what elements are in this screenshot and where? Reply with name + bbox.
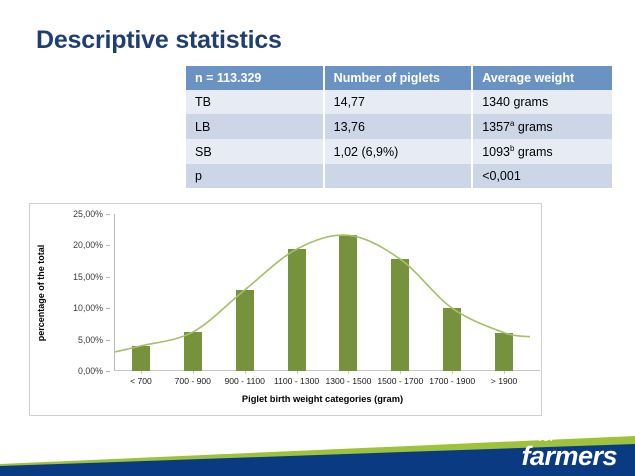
chart-x-tick-mark xyxy=(452,371,453,374)
cell-weight-value: <0,001 xyxy=(482,169,521,183)
chart-y-tick-label: 5,00% xyxy=(78,335,103,345)
table-header-n: n = 113.329 xyxy=(186,66,324,90)
chart-y-tick-mark xyxy=(106,340,110,341)
page-title: Descriptive statistics xyxy=(36,26,282,55)
chart-x-tick-mark xyxy=(504,371,505,374)
chart-bar-slot xyxy=(219,214,271,371)
cell-piglets xyxy=(324,164,473,188)
chart-x-tick-labels: < 700700 - 900900 - 11001100 - 13001300 … xyxy=(115,376,530,386)
cell-weight-unit: grams xyxy=(514,120,552,134)
table-header-weight: Average weight xyxy=(472,66,612,90)
cell-weight: 1357a grams xyxy=(472,114,612,139)
chart-y-axis-title: percentage of the total xyxy=(36,239,52,347)
chart-y-ticks: 0,00%5,00%10,00%15,00%20,00%25,00% xyxy=(53,214,109,371)
chart-bar xyxy=(339,235,357,371)
cell-weight-value: 1357 xyxy=(482,120,510,134)
chart-x-tick-label: 1300 - 1500 xyxy=(323,376,375,386)
chart-y-tick-label: 25,00% xyxy=(73,209,103,219)
chart-y-tick-label: 20,00% xyxy=(73,240,103,250)
cell-piglets: 13,76 xyxy=(324,114,473,139)
cell-label: p xyxy=(186,164,324,188)
chart-bar xyxy=(184,332,202,371)
chart-bar xyxy=(495,333,513,371)
chart-bar-slot xyxy=(374,214,426,371)
chart-x-tick-mark xyxy=(348,371,349,374)
cell-weight: 1340 grams xyxy=(472,90,612,114)
descriptive-statistics-table: n = 113.329 Number of piglets Average we… xyxy=(186,66,612,188)
chart-y-tick-label: 0,00% xyxy=(78,366,103,376)
table-header-row: n = 113.329 Number of piglets Average we… xyxy=(186,66,612,90)
chart-x-tick-label: 1100 - 1300 xyxy=(271,376,323,386)
cell-piglets: 1,02 (6,9%) xyxy=(324,139,473,164)
chart-bar-slot xyxy=(167,214,219,371)
chart-y-tick-mark xyxy=(106,277,110,278)
table-row: p <0,001 xyxy=(186,164,612,188)
cell-weight-unit: grams xyxy=(514,145,552,159)
chart-y-tick-label: 10,00% xyxy=(73,303,103,313)
cell-piglets: 14,77 xyxy=(324,90,473,114)
chart-x-tick-label: 700 - 900 xyxy=(167,376,219,386)
chart-y-tick-mark xyxy=(106,245,110,246)
cell-label: TB xyxy=(186,90,324,114)
cell-weight: 1093b grams xyxy=(472,139,612,164)
chart-x-tick-mark xyxy=(245,371,246,374)
chart-bar-slot xyxy=(271,214,323,371)
chart-bars xyxy=(115,214,530,371)
chart-y-tick-mark xyxy=(106,214,110,215)
cell-label: SB xyxy=(186,139,324,164)
cell-weight-value: 1093 xyxy=(482,145,510,159)
table-header-piglets: Number of piglets xyxy=(324,66,473,90)
chart-plot-area: 0,00%5,00%10,00%15,00%20,00%25,00% xyxy=(115,214,530,371)
chart-bar xyxy=(236,290,254,371)
chart-x-tick-label: < 700 xyxy=(115,376,167,386)
brand-band-shape xyxy=(0,414,635,476)
table-row: LB 13,76 1357a grams xyxy=(186,114,612,139)
table-row: SB 1,02 (6,9%) 1093b grams xyxy=(186,139,612,164)
histogram-chart: percentage of the total 0,00%5,00%10,00%… xyxy=(29,203,542,416)
table-row: TB 14,77 1340 grams xyxy=(186,90,612,114)
chart-bar xyxy=(391,259,409,371)
cell-weight: <0,001 xyxy=(472,164,612,188)
brand-band: for farmers xyxy=(0,414,635,476)
chart-y-tick-mark xyxy=(106,371,110,372)
chart-bar-slot xyxy=(478,214,530,371)
chart-bar-slot xyxy=(426,214,478,371)
chart-x-tick-label: > 1900 xyxy=(478,376,530,386)
chart-x-tick-mark xyxy=(400,371,401,374)
chart-x-tick-label: 900 - 1100 xyxy=(219,376,271,386)
chart-bar xyxy=(443,308,461,371)
chart-x-tick-label: 1500 - 1700 xyxy=(374,376,426,386)
chart-bar-slot xyxy=(323,214,375,371)
chart-x-tick-mark xyxy=(297,371,298,374)
chart-x-axis-title: Piglet birth weight categories (gram) xyxy=(115,394,530,404)
chart-y-tick-label: 15,00% xyxy=(73,272,103,282)
chart-x-tick-mark xyxy=(141,371,142,374)
cell-weight-value: 1340 grams xyxy=(482,95,548,109)
chart-bar-slot xyxy=(115,214,167,371)
chart-bar xyxy=(132,346,150,371)
chart-x-tick-label: 1700 - 1900 xyxy=(426,376,478,386)
chart-x-tick-mark xyxy=(193,371,194,374)
chart-y-tick-mark xyxy=(106,308,110,309)
chart-bar xyxy=(288,249,306,371)
cell-label: LB xyxy=(186,114,324,139)
